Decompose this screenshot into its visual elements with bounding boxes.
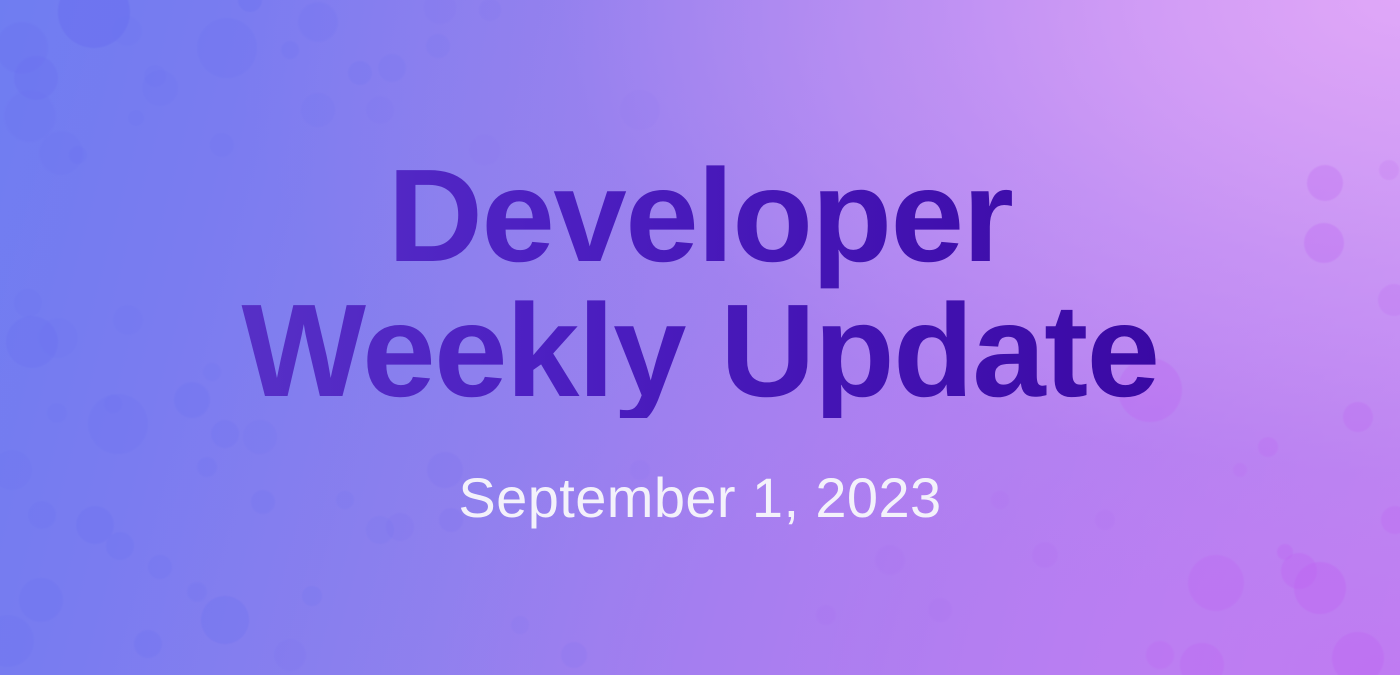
title-line-1: Developer: [241, 149, 1158, 284]
banner-date: September 1, 2023: [458, 470, 941, 526]
banner-content: Developer Weekly Update September 1, 202…: [0, 0, 1400, 675]
title-line-2: Weekly Update: [241, 284, 1158, 419]
developer-weekly-update-banner: Developer Weekly Update September 1, 202…: [0, 0, 1400, 675]
banner-title: Developer Weekly Update: [241, 149, 1158, 418]
